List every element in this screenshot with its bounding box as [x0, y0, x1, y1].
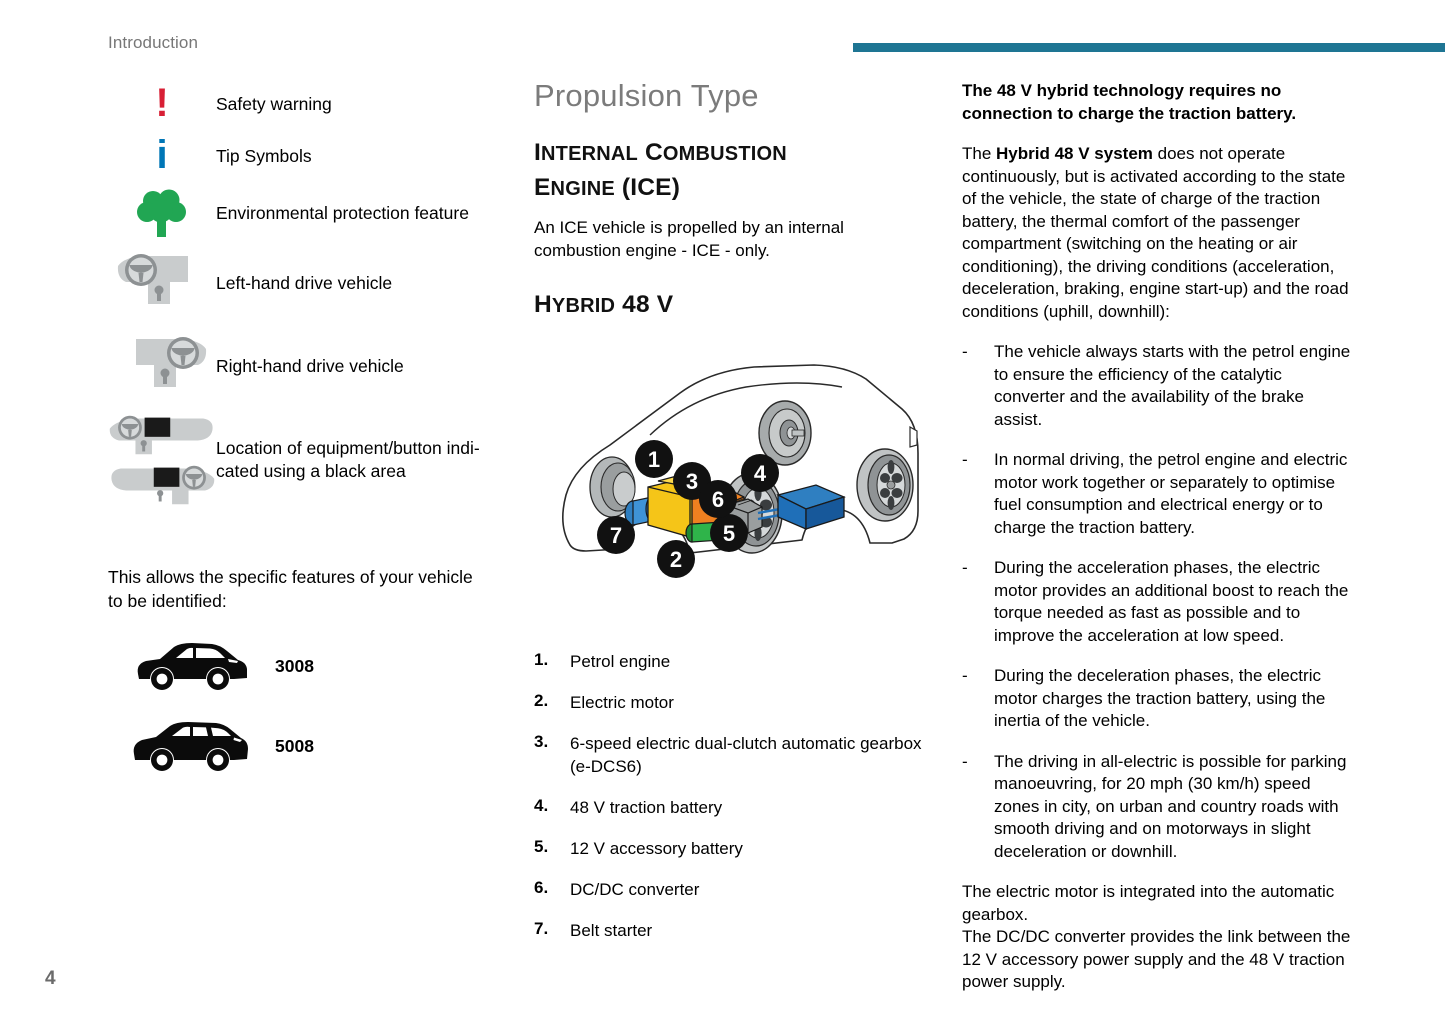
page-header-title: Introduction	[108, 33, 198, 53]
closing-paragraph: The electric motor is integrated into th…	[962, 881, 1354, 994]
hybrid-behaviour-list: - The vehicle always starts with the pet…	[962, 341, 1354, 863]
page-number: 4	[45, 968, 56, 990]
ice-body-text: An ICE vehicle is propelled by an intern…	[534, 216, 926, 262]
list-item-text: Belt starter	[570, 919, 652, 942]
list-item-text: 12 V accessory battery	[570, 837, 743, 860]
list-item-text: The vehicle always starts with the petro…	[994, 341, 1354, 431]
hybrid-48v-powertrain-cutaway-diagram: 1 2 3 4 5 6 7	[540, 335, 930, 620]
list-item-text: 48 V traction battery	[570, 796, 722, 819]
identification-intro-line2: to be identified:	[108, 589, 498, 613]
right-hand-drive-dashboard-icon	[108, 335, 216, 397]
lead-paragraph: The 48 V hybrid technology requires no c…	[962, 80, 1354, 125]
list-item-number: 7.	[534, 919, 570, 942]
list-item-number: 5.	[534, 837, 570, 860]
legend-label: Location of equipment/button indi- cated…	[216, 437, 480, 483]
list-bullet-dash: -	[962, 449, 994, 539]
list-item-text: During the acceleration phases, the elec…	[994, 557, 1354, 647]
callout-4: 4	[754, 461, 767, 486]
hybrid-description-column: The 48 V hybrid technology requires no c…	[962, 80, 1354, 994]
identification-intro: This allows the specific features of you…	[108, 565, 498, 613]
diagram-key-list: 1. Petrol engine 2. Electric motor 3. 6-…	[534, 650, 926, 960]
heading-internal-combustion-engine: INTERNAL COMBUSTIONENGINE (ICE)	[534, 136, 926, 206]
list-item-text: DC/DC converter	[570, 878, 699, 901]
left-hand-drive-dashboard-icon	[108, 252, 216, 314]
callout-6: 6	[712, 487, 724, 512]
closing-line2: The DC/DC converter provides the link be…	[962, 927, 1350, 991]
vehicle-row-5008: 5008	[110, 718, 314, 774]
vehicle-row-3008: 3008	[110, 638, 314, 694]
legend-label: Safety warning	[216, 93, 332, 116]
legend-row-black-area: Location of equipment/button indi- cated…	[108, 410, 508, 510]
list-item: - During the acceleration phases, the el…	[962, 557, 1354, 647]
propulsion-column: Propulsion Type INTERNAL COMBUSTIONENGIN…	[534, 78, 926, 323]
list-item: 2. Electric motor	[534, 691, 926, 714]
legend-row-right-hand-drive: Right-hand drive vehicle	[108, 322, 508, 410]
list-item: - The vehicle always starts with the pet…	[962, 341, 1354, 431]
intro-pre: The	[962, 144, 996, 163]
list-item: - The driving in all-electric is possibl…	[962, 751, 1354, 864]
list-item-number: 4.	[534, 796, 570, 819]
list-item: - During the deceleration phases, the el…	[962, 665, 1354, 733]
list-item: 4. 48 V traction battery	[534, 796, 926, 819]
intro-post: does not operate continuously, but is ac…	[962, 144, 1349, 321]
identification-intro-line1: This allows the specific features of you…	[108, 565, 498, 589]
legend-column: ! Safety warning i Tip Symbols	[108, 78, 508, 510]
heading-hybrid-48v: HYBRID 48 V	[534, 288, 926, 323]
list-item-number: 2.	[534, 691, 570, 714]
vehicle-label: 3008	[275, 656, 314, 677]
list-bullet-dash: -	[962, 665, 994, 733]
list-item-text: Petrol engine	[570, 650, 670, 673]
manual-page: Introduction ! Safety warning i Tip Symb…	[0, 0, 1445, 1018]
header-rule	[853, 43, 1445, 52]
legend-label: Tip Symbols	[216, 145, 312, 168]
list-item-text: The driving in all-electric is possible …	[994, 751, 1354, 864]
list-item-number: 6.	[534, 878, 570, 901]
legend-row-left-hand-drive: Left-hand drive vehicle	[108, 244, 508, 322]
callout-1: 1	[648, 447, 660, 472]
vehicle-label: 5008	[275, 736, 314, 757]
closing-line1: The electric motor is integrated into th…	[962, 882, 1334, 924]
legend-label: Right-hand drive vehicle	[216, 355, 404, 378]
suv-3008-silhouette-icon	[110, 638, 270, 694]
list-bullet-dash: -	[962, 751, 994, 864]
list-item: 7. Belt starter	[534, 919, 926, 942]
list-item-number: 1.	[534, 650, 570, 673]
list-item-text: During the deceleration phases, the elec…	[994, 665, 1354, 733]
information-i-icon: i	[108, 136, 216, 176]
list-item-text: 6-speed electric dual-clutch automatic g…	[570, 732, 926, 778]
black-area-dashboard-icon	[108, 412, 216, 508]
legend-row-tip-symbols: i Tip Symbols	[108, 130, 508, 182]
list-item-number: 3.	[534, 732, 570, 778]
list-item: 3. 6-speed electric dual-clutch automati…	[534, 732, 926, 778]
list-item: 6. DC/DC converter	[534, 878, 926, 901]
list-bullet-dash: -	[962, 557, 994, 647]
list-item: 1. Petrol engine	[534, 650, 926, 673]
page-title: Propulsion Type	[534, 78, 926, 114]
legend-row-safety-warning: ! Safety warning	[108, 78, 508, 130]
callout-2: 2	[670, 547, 682, 572]
list-bullet-dash: -	[962, 341, 994, 431]
legend-row-environmental: Environmental protection feature	[108, 182, 508, 244]
list-item-text: Electric motor	[570, 691, 674, 714]
list-item: - In normal driving, the petrol engine a…	[962, 449, 1354, 539]
legend-label-line1: Location of equipment/button indi-	[216, 437, 480, 460]
legend-label-line2: cated using a black area	[216, 460, 480, 483]
callout-3: 3	[686, 469, 698, 494]
tree-icon	[108, 187, 216, 239]
list-item: 5. 12 V accessory battery	[534, 837, 926, 860]
intro-bold: Hybrid 48 V system	[996, 144, 1153, 163]
callout-5: 5	[723, 521, 735, 546]
list-item-text: In normal driving, the petrol engine and…	[994, 449, 1354, 539]
suv-5008-silhouette-icon	[110, 718, 270, 774]
legend-label: Environmental protection feature	[216, 202, 469, 225]
exclamation-mark-icon: !	[108, 84, 216, 124]
legend-label: Left-hand drive vehicle	[216, 272, 392, 295]
callout-7: 7	[610, 523, 622, 548]
intro-paragraph: The Hybrid 48 V system does not operate …	[962, 143, 1354, 323]
